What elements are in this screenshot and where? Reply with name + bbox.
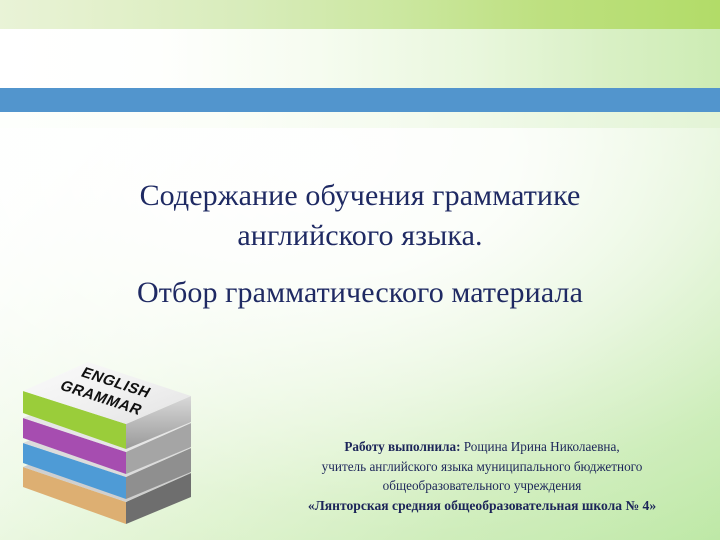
author-line-4-school: «Лянторская средняя общеобразовательная … [262,496,702,516]
decorative-band-fade [0,112,720,128]
decorative-band-green [0,0,720,29]
author-name: Рощина Ирина Николаевна, [460,439,619,454]
title-line-2: английского языка. [60,216,660,256]
decorative-band-blue [0,88,720,112]
author-label: Работу выполнила: [344,439,460,454]
author-line-3: общеобразовательного учреждения [262,476,702,496]
book-stack-graphic: ENGLISH GRAMMAR [14,346,230,532]
presentation-slide: Содержание обучения грамматике английско… [0,0,720,540]
title-line-3: Отбор грамматического материала [60,273,660,313]
decorative-band-white [0,29,720,88]
title-line-1: Содержание обучения грамматике [60,176,660,216]
author-credits: Работу выполнила: Рощина Ирина Николаевн… [262,437,702,516]
author-line-1: Работу выполнила: Рощина Ирина Николаевн… [262,437,702,457]
slide-title: Содержание обучения грамматике английско… [60,176,660,313]
author-line-2: учитель английского языка муниципального… [262,457,702,477]
book-stack-illustration: ENGLISH GRAMMAR [14,346,230,532]
